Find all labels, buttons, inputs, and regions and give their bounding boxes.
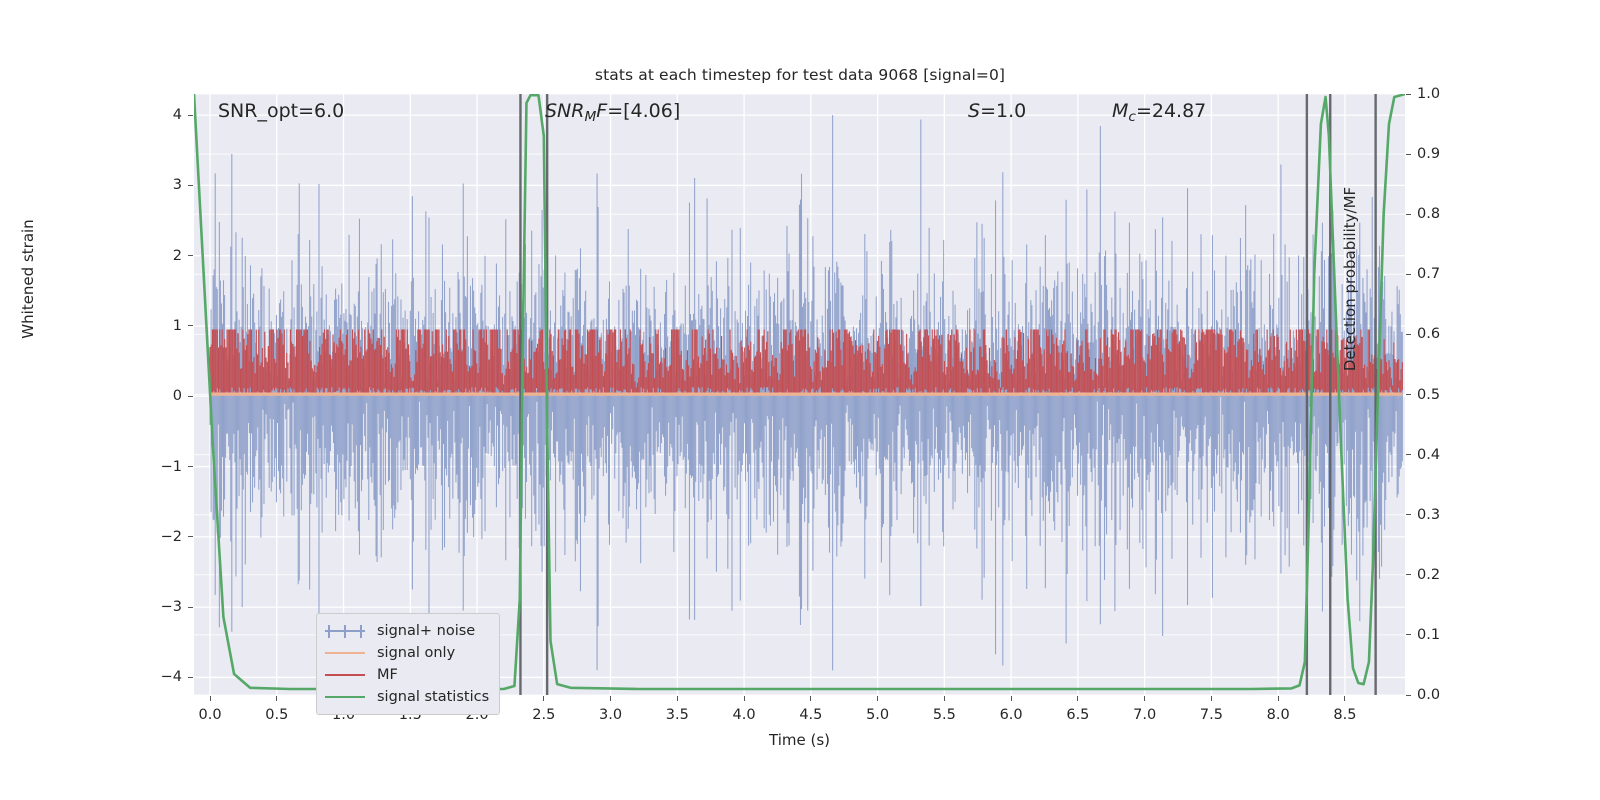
y-tick-label-right: 0.3	[1417, 507, 1479, 523]
x-tick-mark	[744, 696, 745, 701]
annotation-snr-opt-text: SNR_opt=6.0	[218, 100, 344, 122]
x-tick-label: 5.0	[848, 707, 908, 723]
y-tick-label-right: 0.7	[1417, 266, 1479, 282]
annotation-snr-opt: SNR_opt=6.0	[218, 100, 344, 122]
x-tick-label: 6.5	[1048, 707, 1108, 723]
y-tick-mark-left	[188, 255, 193, 256]
x-tick-mark	[276, 696, 277, 701]
legend-swatch-icon	[325, 674, 365, 676]
y-tick-mark-right	[1406, 214, 1411, 215]
y-tick-label-left: 4	[120, 107, 182, 123]
legend-item[interactable]: MF	[325, 664, 489, 686]
annotation-s-value: =1.0	[980, 100, 1026, 122]
y-tick-label-right: 0.1	[1417, 627, 1479, 643]
y-tick-label-right: 0.5	[1417, 387, 1479, 403]
y-tick-mark-right	[1406, 574, 1411, 575]
y-tick-mark-right	[1406, 695, 1411, 696]
y-tick-label-right: 0.4	[1417, 447, 1479, 463]
x-tick-mark	[1344, 696, 1345, 701]
y-tick-mark-left	[188, 115, 193, 116]
legend-swatch-icon	[325, 652, 365, 654]
y-tick-mark-right	[1406, 514, 1411, 515]
x-tick-label: 8.0	[1248, 707, 1308, 723]
y-tick-label-left: −4	[120, 669, 182, 685]
legend[interactable]: signal+ noisesignal onlyMFsignal statist…	[316, 613, 500, 715]
x-tick-mark	[210, 696, 211, 701]
x-tick-label: 7.5	[1181, 707, 1241, 723]
x-tick-label: 3.0	[581, 707, 641, 723]
y-tick-mark-right	[1406, 94, 1411, 95]
y-tick-mark-right	[1406, 634, 1411, 635]
x-tick-label: 0.0	[180, 707, 240, 723]
x-tick-mark	[1278, 696, 1279, 701]
annotation-mc-subscript: c	[1128, 109, 1136, 125]
y-tick-label-left: 0	[120, 388, 182, 404]
annotation-snr-mf-subscript: M	[584, 109, 596, 125]
annotation-mc-symbol: M	[1112, 100, 1128, 122]
y-tick-label-left: −3	[120, 599, 182, 615]
legend-label: signal+ noise	[377, 623, 475, 639]
x-tick-mark	[877, 696, 878, 701]
y-tick-label-right: 0.0	[1417, 687, 1479, 703]
plot-area	[194, 94, 1405, 695]
x-tick-label: 3.5	[647, 707, 707, 723]
y-tick-label-left: 2	[120, 248, 182, 264]
x-tick-label: 2.5	[514, 707, 574, 723]
annotation-snr-mf-f: F	[596, 100, 607, 122]
y-tick-label-left: 1	[120, 318, 182, 334]
x-tick-mark	[677, 696, 678, 701]
y-tick-mark-left	[188, 677, 193, 678]
x-tick-label: 8.5	[1315, 707, 1375, 723]
legend-item[interactable]: signal+ noise	[325, 620, 489, 642]
y-tick-mark-left	[188, 466, 193, 467]
x-tick-label: 7.0	[1115, 707, 1175, 723]
x-tick-label: 5.5	[914, 707, 974, 723]
y-axis-label-right: Detection probability/MF	[1341, 129, 1359, 429]
chart-title: stats at each timestep for test data 906…	[0, 66, 1600, 84]
annotation-snr-mf-value: =[4.06]	[607, 100, 680, 122]
x-axis-label: Time (s)	[194, 731, 1405, 749]
legend-label: MF	[377, 667, 398, 683]
x-tick-label: 6.0	[981, 707, 1041, 723]
legend-label: signal only	[377, 645, 455, 661]
legend-label: signal statistics	[377, 689, 489, 705]
y-tick-mark-right	[1406, 154, 1411, 155]
x-tick-mark	[944, 696, 945, 701]
x-tick-mark	[1211, 696, 1212, 701]
x-tick-label: 4.0	[714, 707, 774, 723]
annotation-snr-mf-symbol: SNR	[545, 100, 584, 122]
y-tick-label-right: 0.9	[1417, 146, 1479, 162]
x-tick-mark	[1144, 696, 1145, 701]
y-tick-label-left: 3	[120, 177, 182, 193]
annotation-snr-mf: SNRMF=[4.06]	[545, 100, 680, 125]
legend-item[interactable]: signal statistics	[325, 686, 489, 708]
x-tick-mark	[543, 696, 544, 701]
y-tick-label-left: −2	[120, 529, 182, 545]
x-tick-label: 4.5	[781, 707, 841, 723]
y-tick-mark-left	[188, 536, 193, 537]
y-tick-mark-left	[188, 185, 193, 186]
y-tick-mark-left	[188, 396, 193, 397]
figure: stats at each timestep for test data 906…	[0, 0, 1600, 800]
legend-item[interactable]: signal only	[325, 642, 489, 664]
y-tick-mark-right	[1406, 274, 1411, 275]
y-tick-label-right: 0.2	[1417, 567, 1479, 583]
y-tick-mark-right	[1406, 334, 1411, 335]
annotation-s-symbol: S	[968, 100, 980, 122]
y-tick-mark-left	[188, 325, 193, 326]
y-tick-label-right: 1.0	[1417, 86, 1479, 102]
y-axis-label-left: Whitened strain	[19, 129, 37, 429]
x-tick-mark	[1077, 696, 1078, 701]
x-tick-mark	[810, 696, 811, 701]
plot-canvas	[194, 94, 1405, 695]
annotation-chirp-mass: Mc=24.87	[1112, 100, 1206, 125]
y-tick-mark-left	[188, 607, 193, 608]
x-tick-mark	[610, 696, 611, 701]
legend-swatch-icon	[325, 630, 365, 632]
y-tick-label-right: 0.6	[1417, 326, 1479, 342]
annotation-signal-statistic: S=1.0	[968, 100, 1026, 122]
y-tick-mark-right	[1406, 454, 1411, 455]
x-tick-mark	[1011, 696, 1012, 701]
y-tick-label-left: −1	[120, 459, 182, 475]
annotation-mc-value: =24.87	[1136, 100, 1206, 122]
x-tick-label: 0.5	[247, 707, 307, 723]
y-tick-label-right: 0.8	[1417, 206, 1479, 222]
y-tick-mark-right	[1406, 394, 1411, 395]
legend-swatch-icon	[325, 696, 365, 698]
